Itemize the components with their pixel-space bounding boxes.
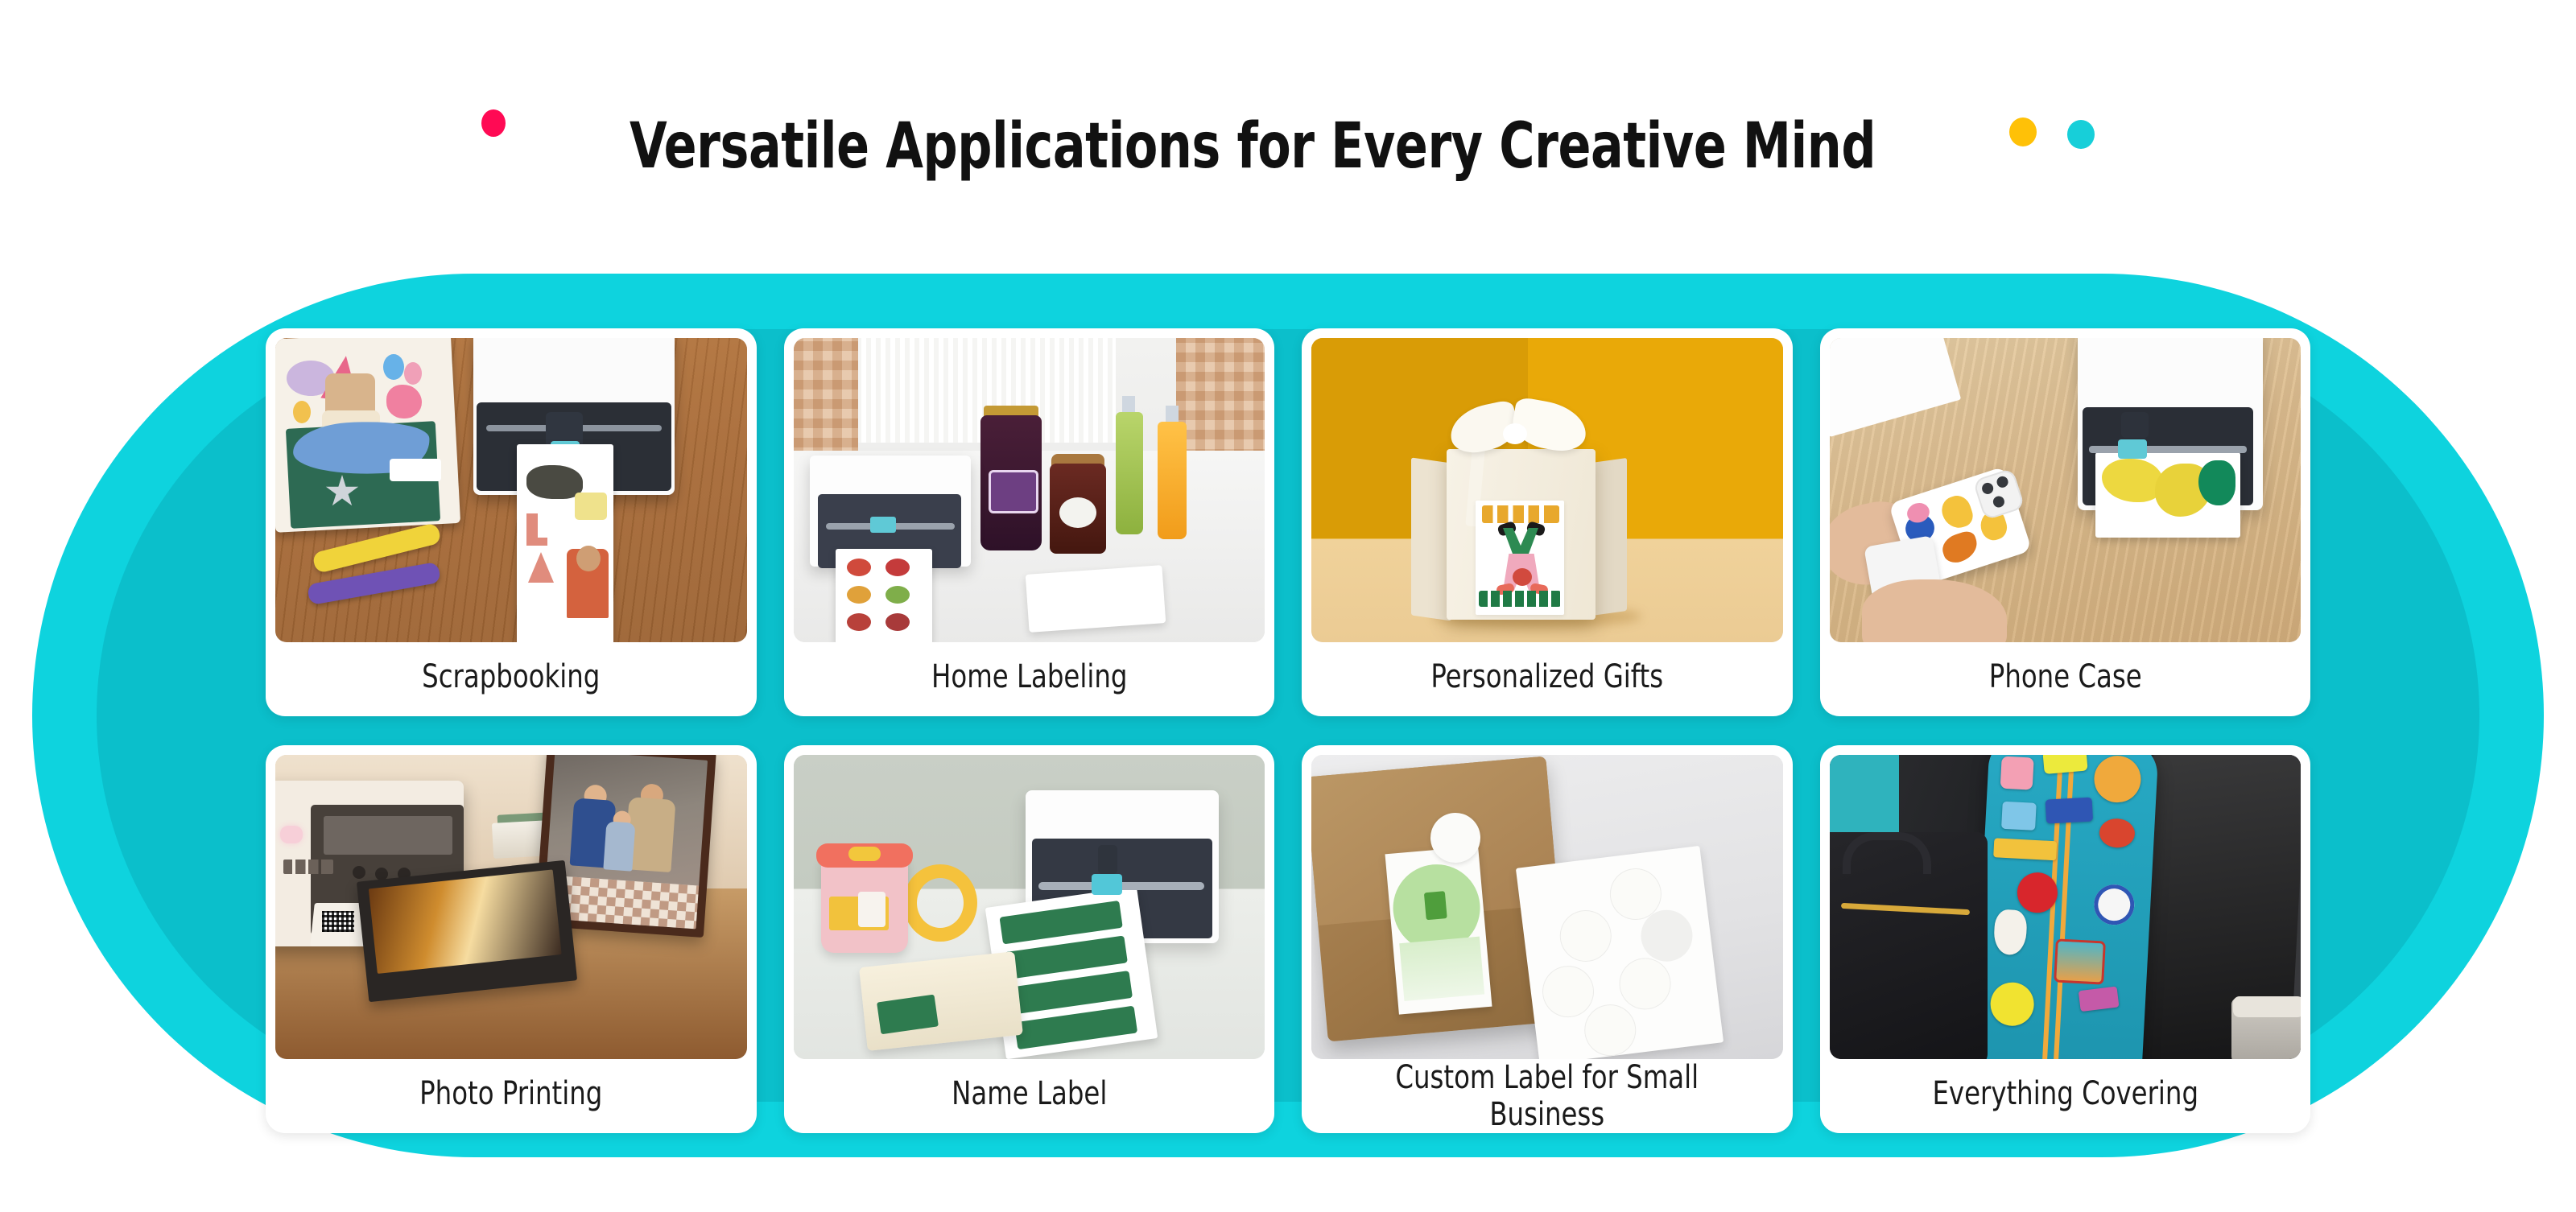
card-image-home-labeling xyxy=(794,338,1265,642)
yellow-dot-icon xyxy=(2009,117,2037,146)
cyan-dot-icon xyxy=(2067,120,2095,149)
card-image-photo-printing xyxy=(275,755,747,1059)
card-label-everything-covering: Everything Covering xyxy=(1853,1059,2277,1133)
card-label-scrapbooking: Scrapbooking xyxy=(299,642,723,716)
card-label-custom-label-small-business: Custom Label for Small Business xyxy=(1335,1059,1759,1133)
card-label-name-label: Name Label xyxy=(817,1059,1241,1133)
page-title: Versatile Applications for Every Creativ… xyxy=(630,110,1876,183)
card-phone-case[interactable]: Phone Case xyxy=(1820,328,2311,716)
card-label-phone-case: Phone Case xyxy=(1853,642,2277,716)
card-home-labeling[interactable]: Home Labeling xyxy=(784,328,1275,716)
card-everything-covering[interactable]: Everything Covering xyxy=(1820,745,2311,1133)
card-image-name-label xyxy=(794,755,1265,1059)
card-image-everything-covering xyxy=(1830,755,2301,1059)
section-header: Versatile Applications for Every Creativ… xyxy=(0,0,2576,274)
card-scrapbooking[interactable]: Scrapbooking xyxy=(266,328,757,716)
card-label-home-labeling: Home Labeling xyxy=(817,642,1241,716)
pink-dot-icon xyxy=(481,109,506,137)
application-card-grid: Scrapbooking xyxy=(266,328,2310,1133)
card-image-custom-label-small-business xyxy=(1311,755,1783,1059)
card-photo-printing[interactable]: Photo Printing xyxy=(266,745,757,1133)
card-name-label[interactable]: Name Label xyxy=(784,745,1275,1133)
card-custom-label-small-business[interactable]: Custom Label for Small Business xyxy=(1302,745,1793,1133)
card-image-phone-case xyxy=(1830,338,2301,642)
card-label-photo-printing: Photo Printing xyxy=(299,1059,723,1133)
card-personalized-gifts[interactable]: Personalized Gifts xyxy=(1302,328,1793,716)
card-image-scrapbooking xyxy=(275,338,747,642)
title-group: Versatile Applications for Every Creativ… xyxy=(481,68,2095,225)
card-label-personalized-gifts: Personalized Gifts xyxy=(1335,642,1759,716)
card-image-personalized-gifts xyxy=(1311,338,1783,642)
